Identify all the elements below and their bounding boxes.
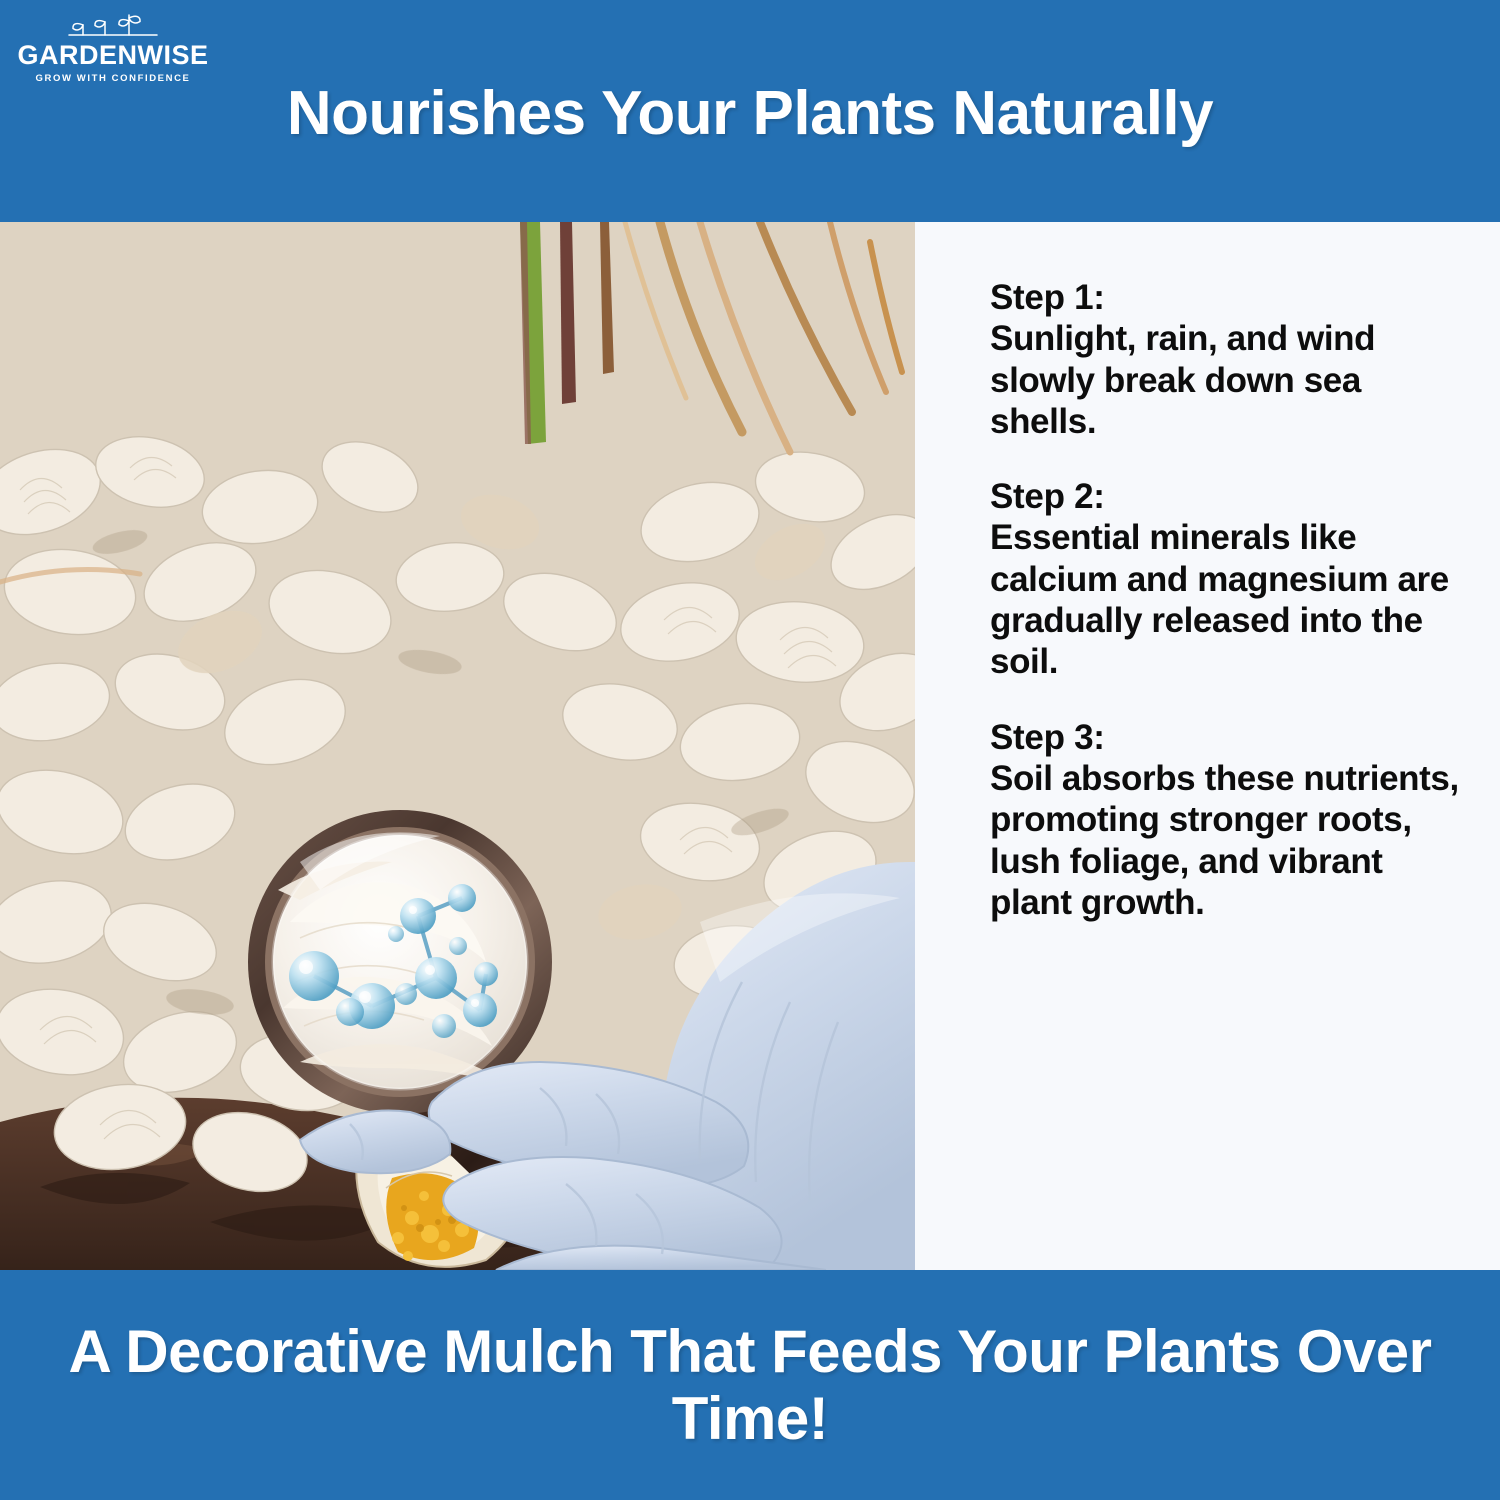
footer-banner: A Decorative Mulch That Feeds Your Plant…: [0, 1270, 1500, 1500]
step-body: Sunlight, rain, and wind slowly break do…: [990, 318, 1460, 442]
step-item: Step 2: Essential minerals like calcium …: [990, 476, 1460, 682]
photo-illustration: [0, 222, 915, 1270]
step-item: Step 3: Soil absorbs these nutrients, pr…: [990, 717, 1460, 923]
brand-name: GARDENWISE: [18, 42, 209, 69]
infographic-canvas: GARDENWISE GROW WITH CONFIDENCE Nourishe…: [0, 0, 1500, 1500]
product-photo: [0, 222, 915, 1270]
footer-tagline: A Decorative Mulch That Feeds Your Plant…: [30, 1318, 1470, 1452]
headline: Nourishes Your Plants Naturally: [0, 78, 1500, 149]
step-body: Essential minerals like calcium and magn…: [990, 517, 1460, 682]
step-title: Step 2:: [990, 476, 1460, 517]
step-body: Soil absorbs these nutrients, promoting …: [990, 758, 1460, 923]
step-title: Step 1:: [990, 277, 1460, 318]
sprouting-seedlings-icon: [53, 8, 173, 40]
step-title: Step 3:: [990, 717, 1460, 758]
brand-logo: GARDENWISE GROW WITH CONFIDENCE: [18, 8, 208, 86]
header-banner: GARDENWISE GROW WITH CONFIDENCE Nourishe…: [0, 0, 1500, 222]
step-item: Step 1: Sunlight, rain, and wind slowly …: [990, 277, 1460, 442]
steps-panel: Step 1: Sunlight, rain, and wind slowly …: [915, 222, 1500, 1270]
